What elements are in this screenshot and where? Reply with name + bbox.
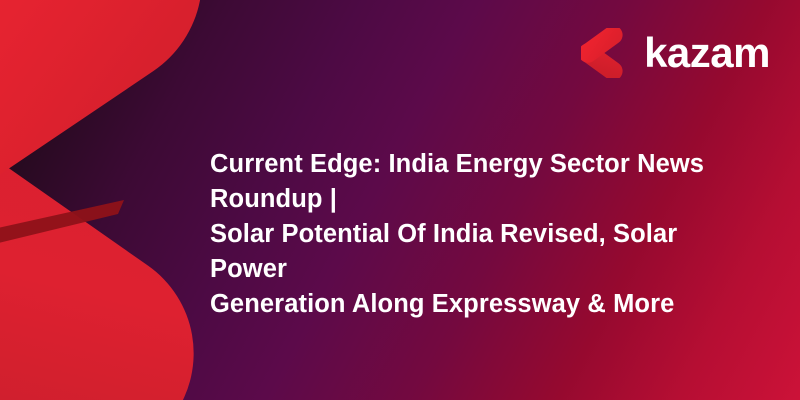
kazam-chevron-logo-icon xyxy=(581,28,633,78)
article-title: Current Edge: India Energy Sector News R… xyxy=(210,147,750,322)
kazam-wordmark: kazam xyxy=(644,32,770,74)
article-hero-banner: Current Edge: India Energy Sector News R… xyxy=(0,0,800,400)
brand-logo[interactable]: kazam xyxy=(581,24,770,82)
